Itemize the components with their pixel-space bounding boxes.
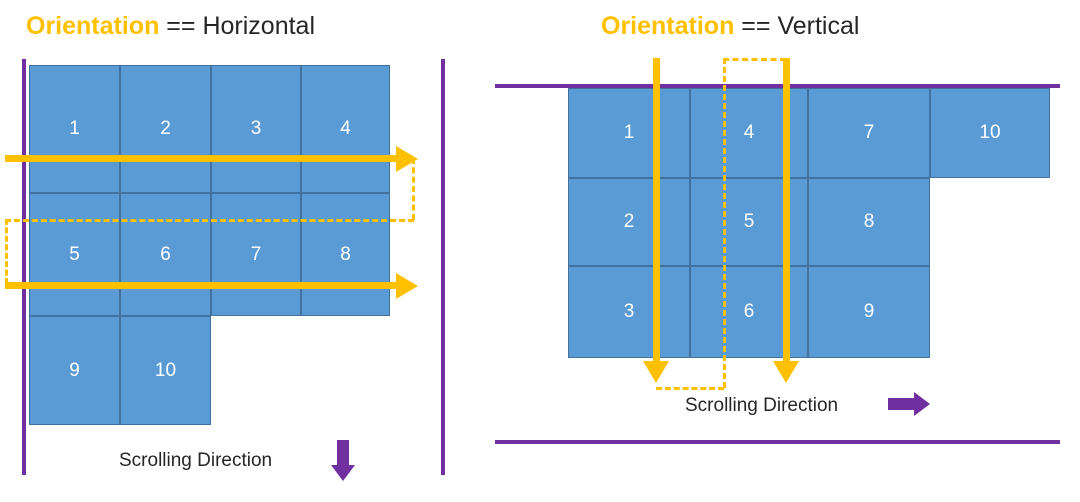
grid-cell[interactable]: 4 bbox=[690, 88, 808, 178]
title-keyword-left: Orientation bbox=[26, 12, 159, 40]
cell-label: 7 bbox=[864, 122, 875, 144]
grid-cell[interactable]: 8 bbox=[301, 193, 390, 316]
arrow-down-icon bbox=[643, 361, 669, 383]
grid-cell[interactable]: 3 bbox=[211, 65, 301, 193]
scrolling-direction-label-left: Scrolling Direction bbox=[119, 450, 272, 472]
cell-label: 3 bbox=[624, 301, 635, 323]
flow-arrow-col1-shaft bbox=[653, 58, 660, 363]
grid-cell[interactable]: 6 bbox=[120, 193, 211, 316]
wrap-connector-horizontal-bottom bbox=[656, 387, 724, 390]
grid-cell[interactable]: 5 bbox=[690, 178, 808, 266]
grid-cell[interactable]: 8 bbox=[808, 178, 930, 266]
cell-label: 9 bbox=[864, 301, 875, 323]
cell-label: 5 bbox=[744, 211, 755, 233]
title-value-left: Horizontal bbox=[202, 12, 315, 40]
cell-label: 4 bbox=[744, 122, 755, 144]
cell-label: 9 bbox=[69, 360, 80, 382]
title-keyword-right: Orientation bbox=[601, 12, 734, 40]
grid-cell[interactable]: 5 bbox=[29, 193, 120, 316]
grid-cell[interactable]: 10 bbox=[120, 316, 211, 425]
flow-arrow-row2-shaft bbox=[5, 282, 405, 289]
cell-label: 8 bbox=[864, 211, 875, 233]
arrow-down-icon bbox=[773, 361, 799, 383]
cell-label: 1 bbox=[624, 122, 635, 144]
grid-cell[interactable]: 3 bbox=[568, 266, 690, 358]
wrap-connector-vertical-right bbox=[412, 158, 415, 220]
cell-label: 5 bbox=[69, 244, 80, 266]
cell-label: 6 bbox=[744, 301, 755, 323]
viewport-boundary-left bbox=[22, 59, 26, 475]
grid-cell[interactable]: 2 bbox=[120, 65, 211, 193]
grid-cell[interactable]: 6 bbox=[690, 266, 808, 358]
page-title-horizontal: Orientation == Horizontal bbox=[26, 14, 315, 39]
cell-label: 10 bbox=[155, 360, 176, 382]
arrow-down-icon bbox=[331, 465, 355, 481]
grid-cell[interactable]: 10 bbox=[930, 88, 1050, 178]
arrow-right-icon bbox=[914, 392, 930, 416]
grid-cell[interactable]: 1 bbox=[568, 88, 690, 178]
cell-label: 1 bbox=[69, 118, 80, 140]
flow-arrow-row1-shaft bbox=[5, 155, 405, 162]
cell-label: 3 bbox=[251, 118, 262, 140]
cell-label: 10 bbox=[979, 122, 1000, 144]
grid-cell[interactable]: 1 bbox=[29, 65, 120, 193]
scroll-arrow-down-shaft bbox=[337, 440, 349, 467]
cell-label: 8 bbox=[340, 244, 351, 266]
page-title-vertical: Orientation == Vertical bbox=[601, 14, 859, 39]
title-operator-left: == bbox=[166, 12, 195, 40]
flow-arrow-col2-shaft bbox=[783, 58, 790, 363]
wrap-connector-horizontal bbox=[5, 219, 414, 222]
arrow-right-icon bbox=[396, 273, 418, 299]
scrolling-direction-label-right: Scrolling Direction bbox=[685, 395, 838, 417]
wrap-connector-vertical-left bbox=[5, 219, 8, 284]
viewport-boundary-right bbox=[441, 59, 445, 475]
grid-cell[interactable]: 7 bbox=[808, 88, 930, 178]
scroll-arrow-right-shaft bbox=[888, 398, 916, 410]
diagram-canvas: Orientation == Horizontal 1 2 3 4 5 6 7 bbox=[0, 0, 1080, 502]
grid-cell[interactable]: 7 bbox=[211, 193, 301, 316]
cell-label: 2 bbox=[160, 118, 171, 140]
grid-cell[interactable]: 4 bbox=[301, 65, 390, 193]
viewport-boundary-bottom bbox=[495, 440, 1060, 444]
grid-cell[interactable]: 9 bbox=[29, 316, 120, 425]
title-operator-right: == bbox=[741, 12, 770, 40]
wrap-connector-vertical bbox=[723, 58, 726, 388]
grid-cell[interactable]: 2 bbox=[568, 178, 690, 266]
grid-cell[interactable]: 9 bbox=[808, 266, 930, 358]
title-value-right: Vertical bbox=[777, 12, 859, 40]
cell-label: 2 bbox=[624, 211, 635, 233]
cell-label: 6 bbox=[160, 244, 171, 266]
cell-label: 4 bbox=[340, 118, 351, 140]
wrap-connector-horizontal-top bbox=[723, 58, 786, 61]
cell-label: 7 bbox=[251, 244, 262, 266]
